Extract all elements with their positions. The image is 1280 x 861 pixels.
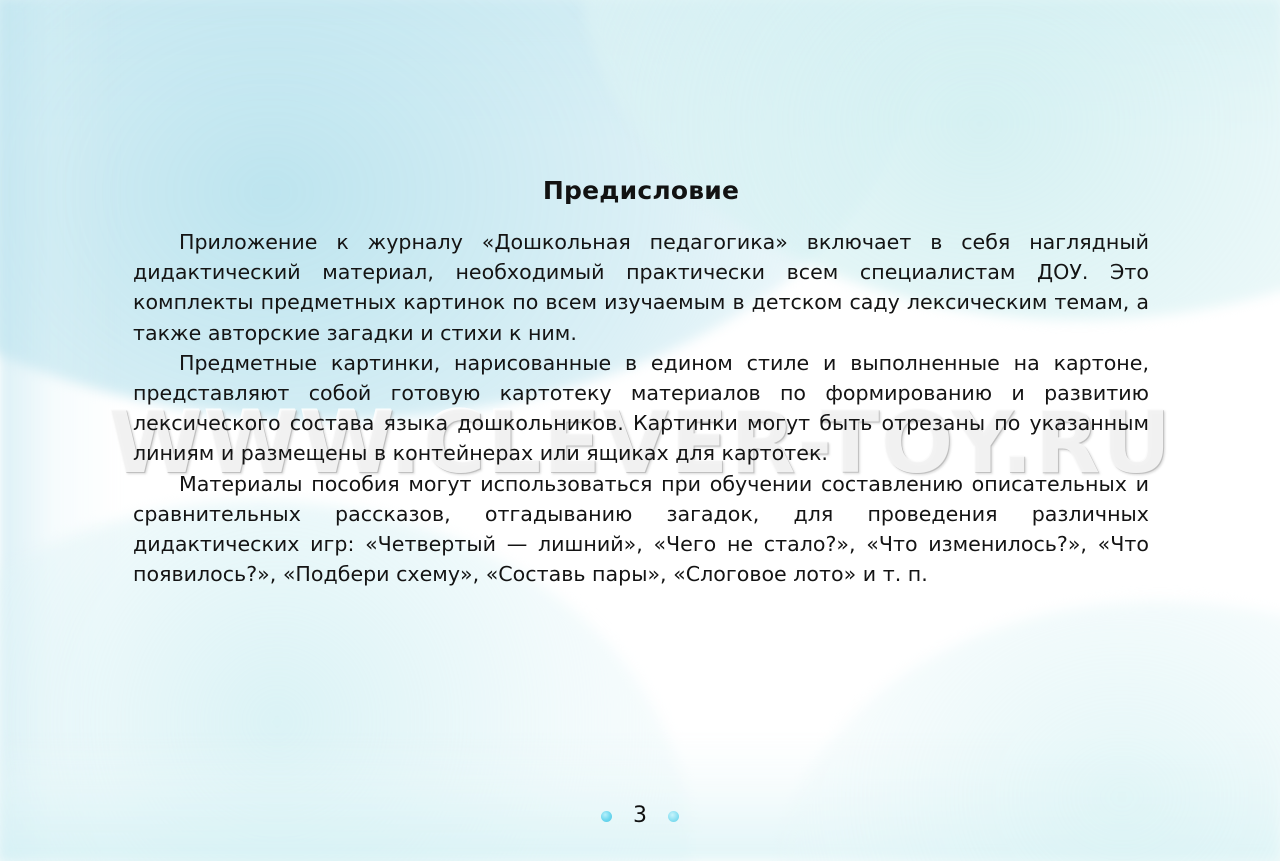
document-content: Предисловие Приложение к журналу «Дошкол… [133, 176, 1149, 589]
page-title: Предисловие [133, 176, 1149, 205]
decorative-dot-left-icon [601, 811, 612, 822]
background-wash-top-strip [0, 0, 1280, 150]
page-footer: 3 [0, 805, 1280, 827]
decorative-dot-right-icon [668, 811, 679, 822]
paragraph-1: Приложение к журналу «Дошкольная педагог… [133, 227, 1149, 348]
background-wash-bottom-strip [0, 731, 1280, 861]
paragraph-3: Материалы пособия могут использоваться п… [133, 469, 1149, 590]
background-wash-left-edge [0, 0, 120, 861]
page-number: 3 [633, 805, 647, 827]
paragraph-2: Предметные картинки, нарисованные в един… [133, 348, 1149, 469]
document-page: WWW.CLEVER-TOY.RU Предисловие Приложение… [0, 0, 1280, 861]
